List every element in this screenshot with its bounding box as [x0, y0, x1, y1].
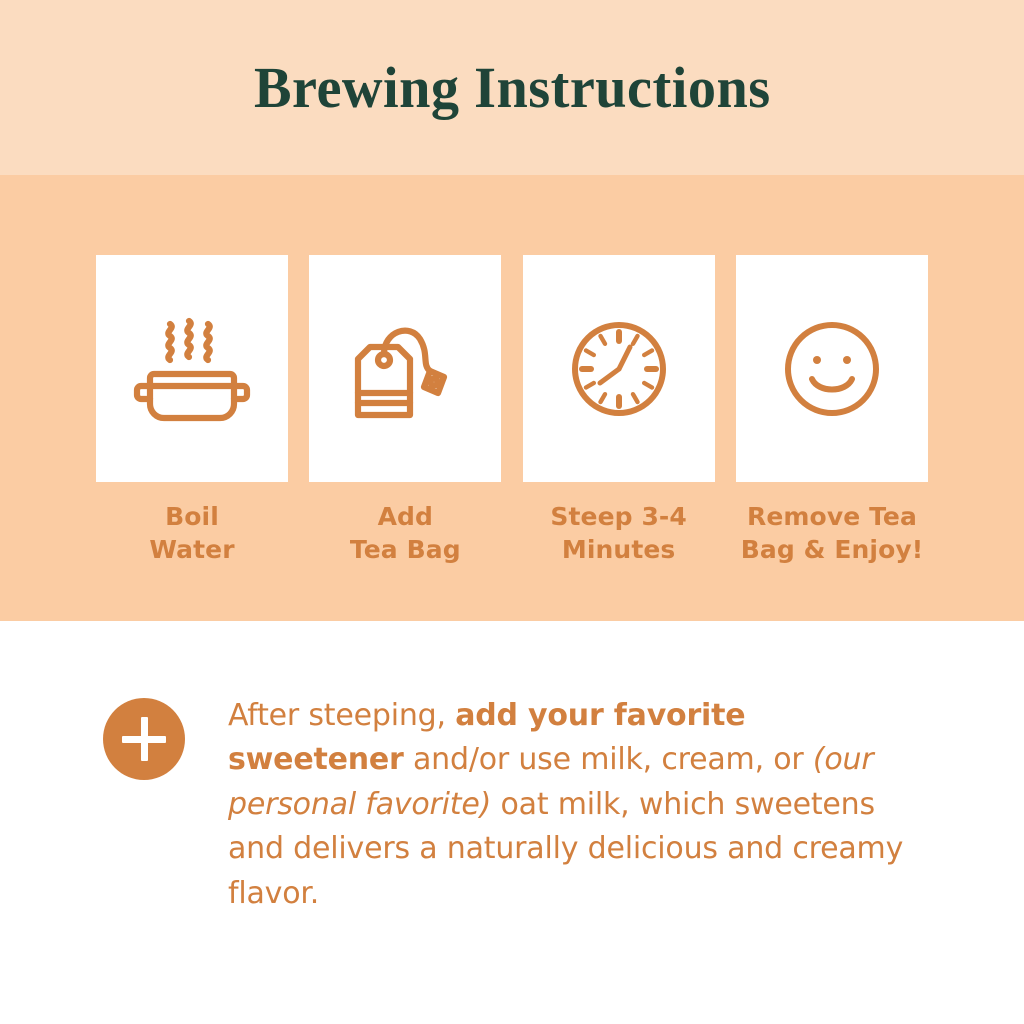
step-card — [96, 255, 288, 482]
pot-steam-icon — [133, 316, 251, 422]
clock-icon — [570, 320, 668, 418]
step-label: Remove Tea Bag & Enjoy! — [741, 500, 924, 566]
plus-icon — [103, 698, 185, 780]
tip-segment-normal-1: After steeping, — [228, 698, 455, 733]
step-steep-minutes: Steep 3-4 Minutes — [523, 255, 715, 566]
step-boil-water: Boil Water — [96, 255, 288, 566]
brewing-instructions-page: Brewing Instructions — [0, 0, 1024, 1024]
step-label: Steep 3-4 Minutes — [550, 500, 687, 566]
tea-bag-icon — [352, 315, 458, 423]
tip-segment-normal-2: and/or use milk, cream, or — [404, 742, 813, 777]
tip-text: After steeping, add your favorite sweete… — [228, 694, 928, 916]
plus-icon-vertical-bar — [141, 717, 148, 761]
tip-block: After steeping, add your favorite sweete… — [103, 698, 943, 946]
step-label: Boil Water — [149, 500, 234, 566]
step-card — [309, 255, 501, 482]
header-band: Brewing Instructions — [0, 0, 1024, 175]
step-add-tea-bag: Add Tea Bag — [309, 255, 501, 566]
step-card — [736, 255, 928, 482]
page-title: Brewing Instructions — [254, 59, 771, 117]
step-label: Add Tea Bag — [350, 500, 461, 566]
smiley-face-icon — [783, 320, 881, 418]
step-card — [523, 255, 715, 482]
steps-section: Boil Water — [0, 175, 1024, 621]
steps-row: Boil Water — [96, 255, 928, 566]
step-remove-and-enjoy: Remove Tea Bag & Enjoy! — [736, 255, 928, 566]
